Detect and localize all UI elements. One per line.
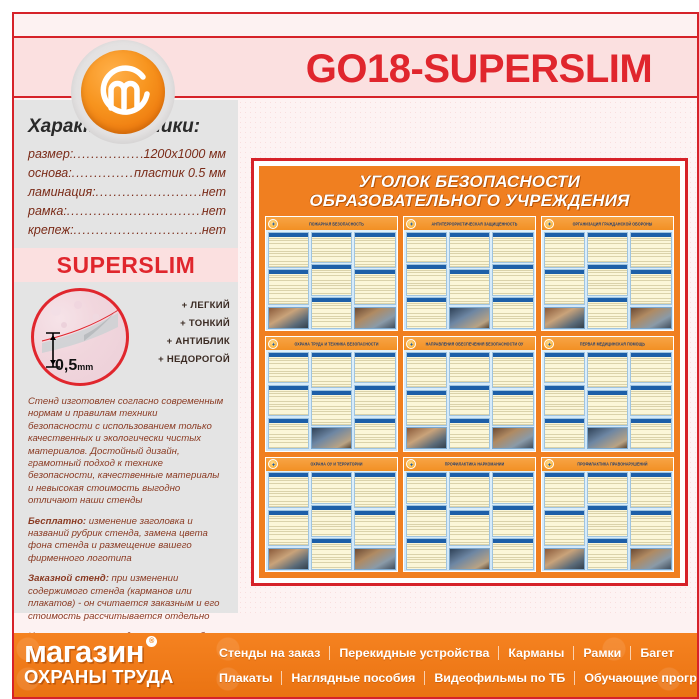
panel-photo [311,427,353,449]
content-block [268,510,310,546]
poster-frame: УГОЛОК БЕЗОПАСНОСТИ ОБРАЗОВАТЕЛЬНОГО УЧР… [251,158,688,586]
text-lines [355,477,395,508]
text-lines [588,477,628,503]
content-block [449,232,491,268]
emblem-icon [406,459,416,469]
text-lines [493,237,533,263]
content-block [268,352,310,383]
text-lines [545,357,585,383]
content-block [630,510,672,546]
text-lines [407,395,447,426]
characteristic-row: рамка:..................................… [14,201,238,220]
text-lines [312,510,352,536]
content-block [544,472,586,508]
panel-column [544,232,586,329]
footer-link[interactable]: Карманы [499,646,573,660]
panel-photo [630,307,672,329]
panel-title: ПОЖАРНАЯ БЕЗОПАСНОСТЬ [278,221,397,226]
content-block [587,390,629,426]
panel-column [406,472,448,569]
characteristic-label: размер: [28,147,73,161]
panel-column [544,472,586,569]
panel-column [587,232,629,329]
feature-item: + ЛЕГКИЙ [134,296,234,314]
content-block [268,418,310,449]
content-block [406,538,448,569]
poster-panel[interactable]: ПОЖАРНАЯ БЕЗОПАСНОСТЬ [265,216,398,331]
content-block [406,264,448,295]
text-lines [588,357,628,388]
content-block [311,538,353,569]
content-block [492,538,534,569]
description-paragraph: Заказной стенд: при изменении содержимог… [28,573,224,623]
text-lines [269,237,309,268]
content-block [630,232,672,268]
text-lines [588,395,628,426]
content-block [268,269,310,305]
panel-column [354,232,396,329]
content-block [354,510,396,546]
content-block [630,352,672,383]
panel-body [404,350,535,450]
characteristic-row: размер:.................................… [14,144,238,163]
content-block [492,297,534,328]
panel-photo [449,307,491,329]
panel-column [630,472,672,569]
text-lines [493,357,533,388]
content-block [406,352,448,388]
poster-title-line1: УГОЛОК БЕЗОПАСНОСТИ [259,172,680,191]
panel-header: АНТИТЕРРОРИСТИЧЕСКАЯ ЗАЩИЩЕННОСТЬ [404,217,535,230]
text-lines [407,302,447,328]
panel-title: ОРГАНИЗАЦИЯ ГРАЖДАНСКОЙ ОБОРОНЫ [554,221,673,226]
content-block [544,352,586,383]
text-lines [588,269,628,295]
panel-column [354,472,396,569]
thickness-diagram: 0,5mm + ЛЕГКИЙ+ ТОНКИЙ+ АНТИБЛИК+ НЕДОРО… [14,282,238,390]
content-block [268,385,310,416]
panel-column [268,352,310,449]
content-block [449,510,491,546]
text-lines [312,237,352,263]
text-lines [269,274,309,305]
poster-panel[interactable]: ПРОФИЛАКТИКА НАРКОМАНИИ [403,457,536,572]
content-block [544,232,586,268]
panel-column [492,352,534,449]
panel-body [266,471,397,571]
text-lines [355,357,395,383]
page-inner-frame: GO18-SUPERSLIM Характеристики: размер:..… [12,12,699,699]
text-lines [407,237,447,263]
content-block [268,472,310,508]
panel-photo [354,548,396,570]
text-lines [631,357,671,383]
footer-link[interactable]: Багет [631,646,683,660]
panel-photo [354,307,396,329]
poster-title: УГОЛОК БЕЗОПАСНОСТИ ОБРАЗОВАТЕЛЬНОГО УЧР… [259,172,680,210]
characteristic-value: нет [202,204,226,218]
brand-name-line1: магазин ® [24,637,144,667]
characteristic-row: основа:.................................… [14,163,238,182]
panel-photo [406,427,448,449]
poster-title-line2: ОБРАЗОВАТЕЛЬНОГО УЧРЕЖДЕНИЯ [259,191,680,210]
text-lines [450,274,490,305]
characteristic-label: рамка: [28,204,67,218]
panel-column [449,472,491,569]
text-lines [450,515,490,546]
text-lines [407,269,447,295]
panel-column [544,352,586,449]
text-lines [269,515,309,546]
characteristic-dots: ........................................… [74,223,202,237]
panel-header: НАПРАВЛЕНИЯ ОБЕСПЕЧЕНИЯ БЕЗОПАСНОСТИ ОУ [404,337,535,350]
panel-header: ОХРАНА ОУ И ТЕРРИТОРИИ [266,458,397,471]
content-block [354,418,396,449]
text-lines [269,423,309,449]
text-lines [631,515,671,546]
content-block [587,352,629,388]
text-lines [312,269,352,295]
content-block [354,472,396,508]
panel-column [449,232,491,329]
panel-column [587,352,629,449]
shop-brand[interactable]: магазин ® ОХРАНЫ ТРУДА [24,637,204,695]
text-lines [493,269,533,295]
panel-header: ПРОФИЛАКТИКА ПРАВОНАРУШЕНИЙ [542,458,673,471]
panel-header: ОРГАНИЗАЦИЯ ГРАЖДАНСКОЙ ОБОРОНЫ [542,217,673,230]
content-block [492,472,534,503]
panel-body [542,350,673,450]
text-lines [493,543,533,569]
panel-photo [587,427,629,449]
page-root: GO18-SUPERSLIM Характеристики: размер:..… [0,0,699,699]
text-lines [631,390,671,416]
content-block [544,385,586,416]
content-block [587,232,629,263]
text-lines [407,543,447,569]
footer-bar: магазин ® ОХРАНЫ ТРУДА Стенды на заказПе… [14,633,697,697]
characteristic-dots: ........................................… [96,185,202,199]
text-lines [450,423,490,449]
panel-header: ПРОФИЛАКТИКА НАРКОМАНИИ [404,458,535,471]
content-block [311,297,353,328]
text-lines [631,274,671,305]
content-block [630,269,672,305]
panel-title: АНТИТЕРРОРИСТИЧЕСКАЯ ЗАЩИЩЕННОСТЬ [416,221,535,226]
text-lines [545,515,585,546]
panel-photo [544,548,586,570]
footer-link[interactable]: Наглядные пособия [282,671,424,685]
content-block [311,232,353,263]
brand-word: магазин [24,634,144,669]
panel-column [492,232,534,329]
content-block [406,232,448,263]
content-block [449,385,491,416]
panel-column [311,352,353,449]
text-lines [407,510,447,536]
characteristic-value: нет [202,185,226,199]
content-block [268,232,310,268]
footer-link[interactable]: Обучающие программы [575,671,697,685]
paragraph-lead: Заказной стенд: [28,573,109,584]
characteristic-value: нет [202,223,226,237]
text-lines [312,395,352,426]
feature-item: + НЕДОРОГОЙ [134,350,234,368]
text-lines [545,237,585,268]
content-block [544,418,586,449]
text-lines [312,302,352,328]
content-block [406,297,448,328]
panel-header: ПОЖАРНАЯ БЕЗОПАСНОСТЬ [266,217,397,230]
content-block [311,352,353,388]
panel-title: НАПРАВЛЕНИЯ ОБЕСПЕЧЕНИЯ БЕЗОПАСНОСТИ ОУ [416,341,535,346]
panel-photo [268,548,310,570]
text-lines [545,274,585,305]
content-block [311,264,353,295]
panel-column [630,352,672,449]
panel-title: ОХРАНА ТРУДА И ТЕХНИКА БЕЗОПАСНОСТИ [278,341,397,346]
poster-panel[interactable]: ОРГАНИЗАЦИЯ ГРАЖДАНСКОЙ ОБОРОНЫ [541,216,674,331]
text-lines [631,477,671,508]
left-sidebar: Характеристики: размер:.................… [14,100,238,613]
emblem-icon [544,459,554,469]
characteristic-dots: ........................................… [73,147,143,161]
characteristics-list: размер:.................................… [14,144,238,239]
content-block [544,510,586,546]
panel-header: ОХРАНА ТРУДА И ТЕХНИКА БЕЗОПАСНОСТИ [266,337,397,350]
description-block: Стенд изготовлен согласно современным но… [14,390,238,668]
poster-panel[interactable]: ПЕРВАЯ МЕДИЦИНСКАЯ ПОМОЩЬ [541,336,674,451]
poster-panel[interactable]: АНТИТЕРРОРИСТИЧЕСКАЯ ЗАЩИЩЕННОСТЬ [403,216,536,331]
characteristic-label: крепеж: [28,223,74,237]
logo-disc [81,50,165,134]
text-lines [269,357,309,383]
characteristic-value: 1200x1000 мм [144,147,226,161]
feature-item: + ТОНКИЙ [134,314,234,332]
panel-photo [449,548,491,570]
characteristic-dots: ........................................… [67,204,202,218]
panel-title: ПРОФИЛАКТИКА НАРКОМАНИИ [416,462,535,467]
content-block [587,297,629,328]
description-paragraph: Бесплатно: изменение заголовка и названи… [28,516,224,566]
text-lines [493,510,533,536]
panel-column [311,472,353,569]
footer-links: Стенды на заказПерекидные устройстваКарм… [210,640,691,690]
content-block [449,472,491,508]
text-lines [355,390,395,416]
panel-body [404,471,535,571]
content-block [492,352,534,388]
panel-column [354,352,396,449]
footer-link[interactable]: Видеофильмы по ТБ [425,671,574,685]
panel-column [406,232,448,329]
panel-body [542,230,673,330]
panel-photo [544,307,586,329]
panel-title: ПРОФИЛАКТИКА ПРАВОНАРУШЕНИЙ [554,462,673,467]
text-lines [545,390,585,416]
panel-column [449,352,491,449]
text-lines [355,423,395,449]
panel-column [587,472,629,569]
text-lines [588,302,628,328]
text-lines [631,237,671,268]
panel-column [311,232,353,329]
panel-column [268,232,310,329]
emblem-icon [544,219,554,229]
panel-column [268,472,310,569]
text-lines [545,423,585,449]
characteristic-dots: ........................................… [72,166,134,180]
panel-header: ПЕРВАЯ МЕДИЦИНСКАЯ ПОМОЩЬ [542,337,673,350]
content-block [587,472,629,503]
text-lines [588,237,628,263]
content-block [630,472,672,508]
text-lines [450,390,490,416]
registered-trademark-icon: ® [146,636,157,647]
content-block [630,418,672,449]
thickness-unit: mm [77,362,93,372]
text-lines [355,237,395,268]
poster-panel[interactable]: ОХРАНА ТРУДА И ТЕХНИКА БЕЗОПАСНОСТИ [265,336,398,451]
content-block [406,472,448,503]
content-block [449,352,491,383]
text-lines [493,395,533,426]
poster-panel[interactable]: ОХРАНА ОУ И ТЕРРИТОРИИ [265,457,398,572]
text-lines [493,302,533,328]
characteristic-row: крепеж:.................................… [14,220,238,239]
footer-link[interactable]: Стенды на заказ [210,646,329,660]
content-block [354,385,396,416]
text-lines [312,477,352,503]
panel-body [266,230,397,330]
text-lines [407,357,447,388]
panel-photo [630,548,672,570]
panel-body [542,471,673,571]
superslim-badge: SUPERSLIM [14,248,238,282]
text-lines [450,477,490,508]
text-lines [355,515,395,546]
paragraph-lead: Бесплатно: [28,516,86,527]
content-block [492,264,534,295]
panel-photo [492,427,534,449]
description-paragraph: Стенд изготовлен согласно современным но… [28,396,224,508]
text-lines [450,357,490,383]
text-lines [355,274,395,305]
panel-photo [268,307,310,329]
content-block [354,352,396,383]
characteristic-row: ламинация:..............................… [14,182,238,201]
text-lines [631,423,671,449]
panel-body [266,350,397,450]
text-lines [269,477,309,508]
characteristic-value: пластик 0.5 мм [134,166,226,180]
feature-item: + АНТИБЛИК [134,332,234,350]
text-lines [588,510,628,536]
text-lines [450,237,490,268]
content-block [587,538,629,569]
footer-links-row-1: Стенды на заказПерекидные устройстваКарм… [210,640,691,665]
content-block [354,232,396,268]
content-block [449,418,491,449]
panel-column [406,352,448,449]
emblem-icon [406,219,416,229]
content-block [311,472,353,503]
text-lines [493,477,533,503]
poster-panel-grid: ПОЖАРНАЯ БЕЗОПАСНОСТЬАНТИТЕРРОРИСТИЧЕСКА… [265,216,674,572]
text-lines [312,357,352,388]
content-block [492,232,534,263]
content-block [449,269,491,305]
panel-title: ОХРАНА ОУ И ТЕРРИТОРИИ [278,462,397,467]
content-block [354,269,396,305]
panel-body [404,230,535,330]
magnifier-circle: 0,5mm [31,288,129,386]
emblem-icon [544,339,554,349]
brand-logo [71,40,175,144]
content-block [630,385,672,416]
emblem-icon [268,459,278,469]
content-block [587,505,629,536]
footer-link[interactable]: Перекидные устройства [330,646,498,660]
page-title: GO18-SUPERSLIM [264,38,694,100]
content-block [311,505,353,536]
content-block [311,390,353,426]
characteristic-label: ламинация: [28,185,96,199]
m-circle-icon [81,50,165,134]
poster-board: УГОЛОК БЕЗОПАСНОСТИ ОБРАЗОВАТЕЛЬНОГО УЧР… [258,165,681,579]
poster-panel[interactable]: ПРОФИЛАКТИКА ПРАВОНАРУШЕНИЙ [541,457,674,572]
brand-name-line2: ОХРАНЫ ТРУДА [24,667,204,687]
poster-area: УГОЛОК БЕЗОПАСНОСТИ ОБРАЗОВАТЕЛЬНОГО УЧР… [238,100,697,613]
panel-column [492,472,534,569]
content-block [492,390,534,426]
features-list: + ЛЕГКИЙ+ ТОНКИЙ+ АНТИБЛИК+ НЕДОРОГОЙ [134,296,234,368]
text-lines [269,390,309,416]
emblem-icon [268,339,278,349]
footer-link[interactable]: Рамки [574,646,630,660]
footer-link[interactable]: Плакаты [210,671,281,685]
text-lines [407,477,447,503]
panel-column [630,232,672,329]
panel-title: ПЕРВАЯ МЕДИЦИНСКАЯ ПОМОЩЬ [554,341,673,346]
characteristic-label: основа: [28,166,72,180]
text-lines [312,543,352,569]
text-lines [588,543,628,569]
footer-links-row-2: ПлакатыНаглядные пособияВидеофильмы по Т… [210,665,691,690]
content-block [492,505,534,536]
content-block [544,269,586,305]
content-block [406,505,448,536]
emblem-icon [268,219,278,229]
poster-panel[interactable]: НАПРАВЛЕНИЯ ОБЕСПЕЧЕНИЯ БЕЗОПАСНОСТИ ОУ [403,336,536,451]
content-block [587,264,629,295]
content-block [406,390,448,426]
text-lines [545,477,585,508]
emblem-icon [406,339,416,349]
thickness-label: 0,5mm [55,357,93,375]
